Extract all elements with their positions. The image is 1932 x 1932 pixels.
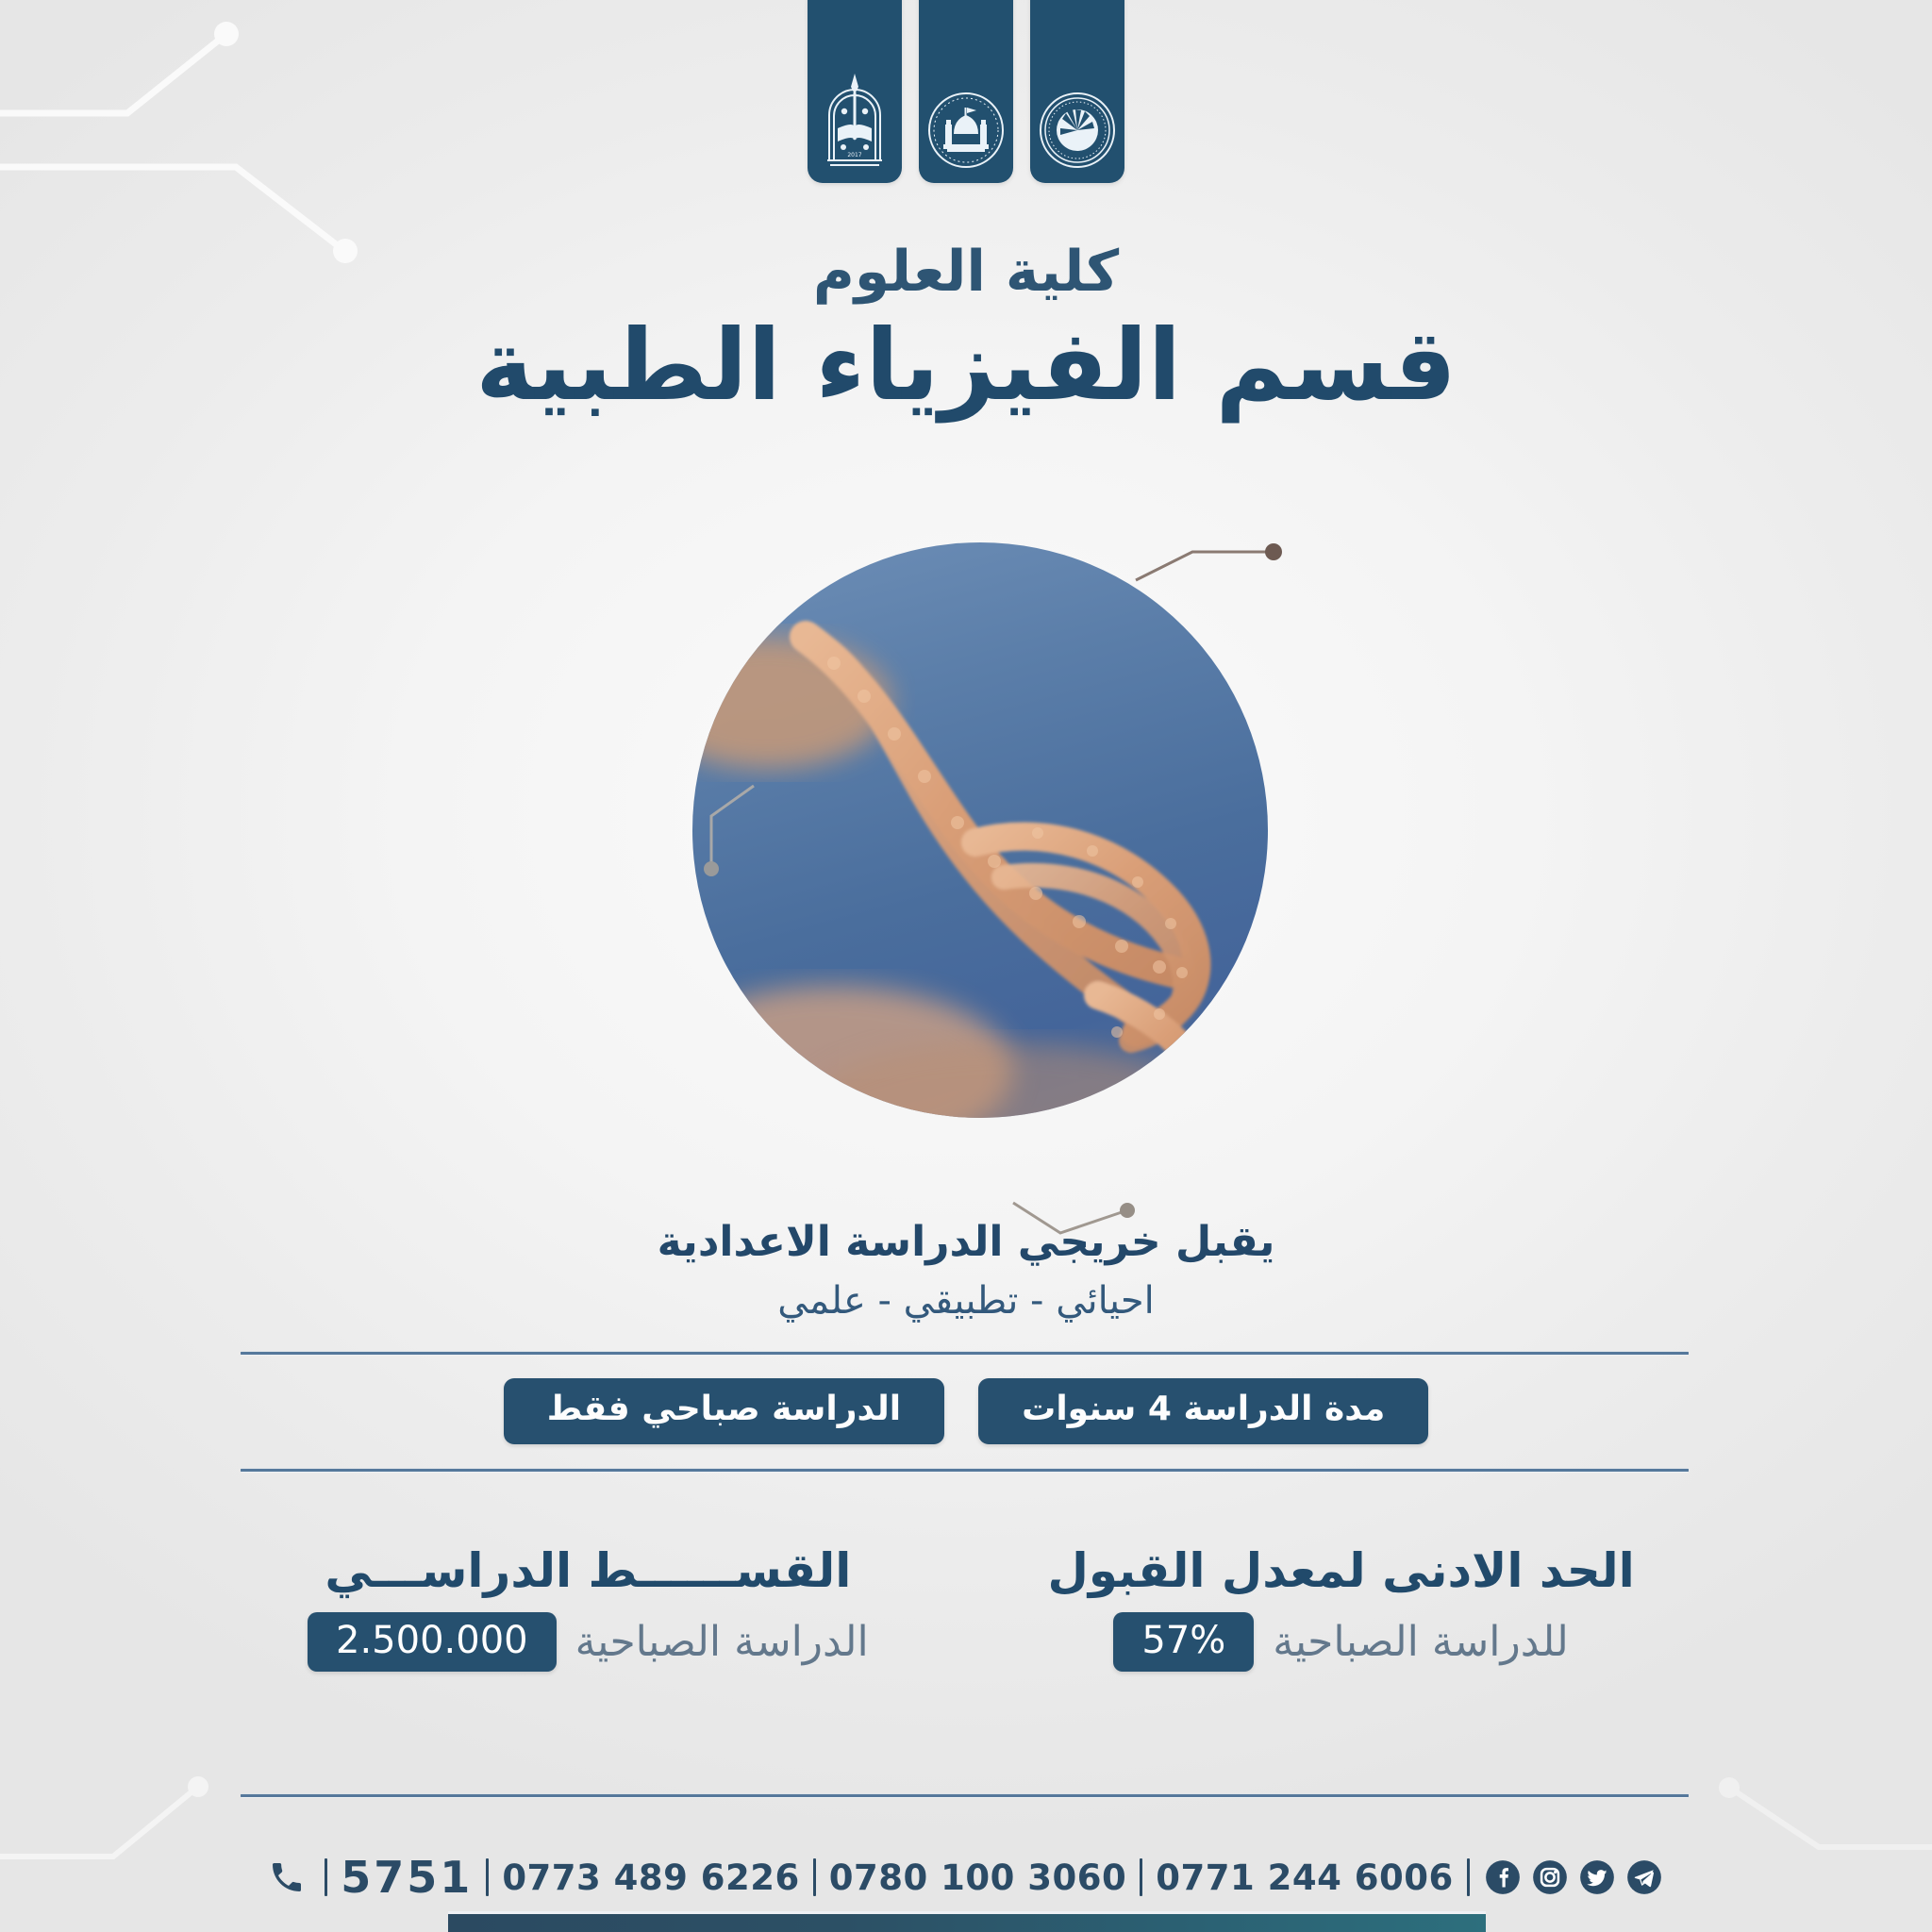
university-of-warith-al-anbiyaa-logo: 2017: [818, 66, 891, 170]
ministry-of-higher-education-iraq-logo: [1038, 91, 1117, 170]
facebook-icon[interactable]: [1483, 1857, 1523, 1897]
contact-separator: [813, 1858, 816, 1896]
phone-number-1: 0773 489 6226: [502, 1857, 799, 1898]
department-title: قسم الفيزياء الطبية: [0, 308, 1932, 424]
hotline-number: 5751: [341, 1852, 473, 1903]
social-icons: [1483, 1857, 1664, 1897]
contact-separator: [325, 1858, 327, 1896]
morning-study-pill: الدراسة صباحي فقط: [504, 1378, 944, 1444]
admission-value-line: للدراسة الصباحية 57%: [993, 1612, 1689, 1672]
phone-number-2: 0780 100 3060: [829, 1857, 1126, 1898]
phone-number-3: 0771 244 6006: [1156, 1857, 1453, 1898]
info-row: الحد الادنى لمعدل القبول للدراسة الصباحي…: [241, 1543, 1689, 1672]
hero-connector-lines: [608, 533, 1324, 1250]
bottom-accent-bar: [448, 1911, 1486, 1932]
tuition-value-line: الدراسة الصباحية 2.500.000: [241, 1612, 936, 1672]
phone-icon: [268, 1858, 306, 1896]
al-ataba-al-abbasiya-logo: [926, 91, 1006, 170]
divider-top: [241, 1351, 1689, 1356]
accepts-sub-text: احيائي - تطبيقي - علمي: [0, 1274, 1932, 1327]
logo-card-university: 2017: [808, 0, 902, 183]
logo-card-holy-shrine: [919, 0, 1013, 183]
twitter-icon[interactable]: [1577, 1857, 1617, 1897]
pill-row: مدة الدراسة 4 سنوات الدراسة صباحي فقط: [0, 1378, 1932, 1444]
admission-value-chip: 57%: [1113, 1612, 1254, 1672]
logo-card-ministry: [1030, 0, 1124, 183]
tuition-value-chip: 2.500.000: [308, 1612, 557, 1672]
contact-separator: [1467, 1858, 1470, 1896]
telegram-icon[interactable]: [1624, 1857, 1664, 1897]
accepts-main-text: يقبل خريجي الدراسة الاعدادية: [0, 1215, 1932, 1269]
instagram-icon[interactable]: [1530, 1857, 1570, 1897]
tuition-label: الدراسة الصباحية: [575, 1618, 869, 1666]
admission-info-column: الحد الادنى لمعدل القبول للدراسة الصباحي…: [993, 1543, 1689, 1672]
admission-heading: الحد الادنى لمعدل القبول: [993, 1543, 1689, 1599]
college-title: كلية العلوم: [0, 241, 1932, 304]
hero-image-block: [608, 533, 1324, 1250]
contact-bar: 5751 0773 489 6226 0780 100 3060 0771 24…: [0, 1852, 1932, 1903]
tuition-info-column: القســــــط الدراســـي الدراسة الصباحية …: [241, 1543, 936, 1672]
study-duration-pill: مدة الدراسة 4 سنوات: [978, 1378, 1428, 1444]
divider-middle: [241, 1468, 1689, 1473]
page-title-block: كلية العلوم قسم الفيزياء الطبية: [0, 241, 1932, 424]
contact-separator: [1140, 1858, 1142, 1896]
svg-text:2017: 2017: [847, 152, 861, 158]
accepts-block: يقبل خريجي الدراسة الاعدادية احيائي - تط…: [0, 1215, 1932, 1327]
logo-bar: 2017: [808, 0, 1124, 183]
tuition-heading: القســــــط الدراســـي: [241, 1543, 936, 1599]
divider-bottom: [241, 1793, 1689, 1798]
contact-separator: [486, 1858, 489, 1896]
admission-label: للدراسة الصباحية: [1273, 1618, 1569, 1666]
